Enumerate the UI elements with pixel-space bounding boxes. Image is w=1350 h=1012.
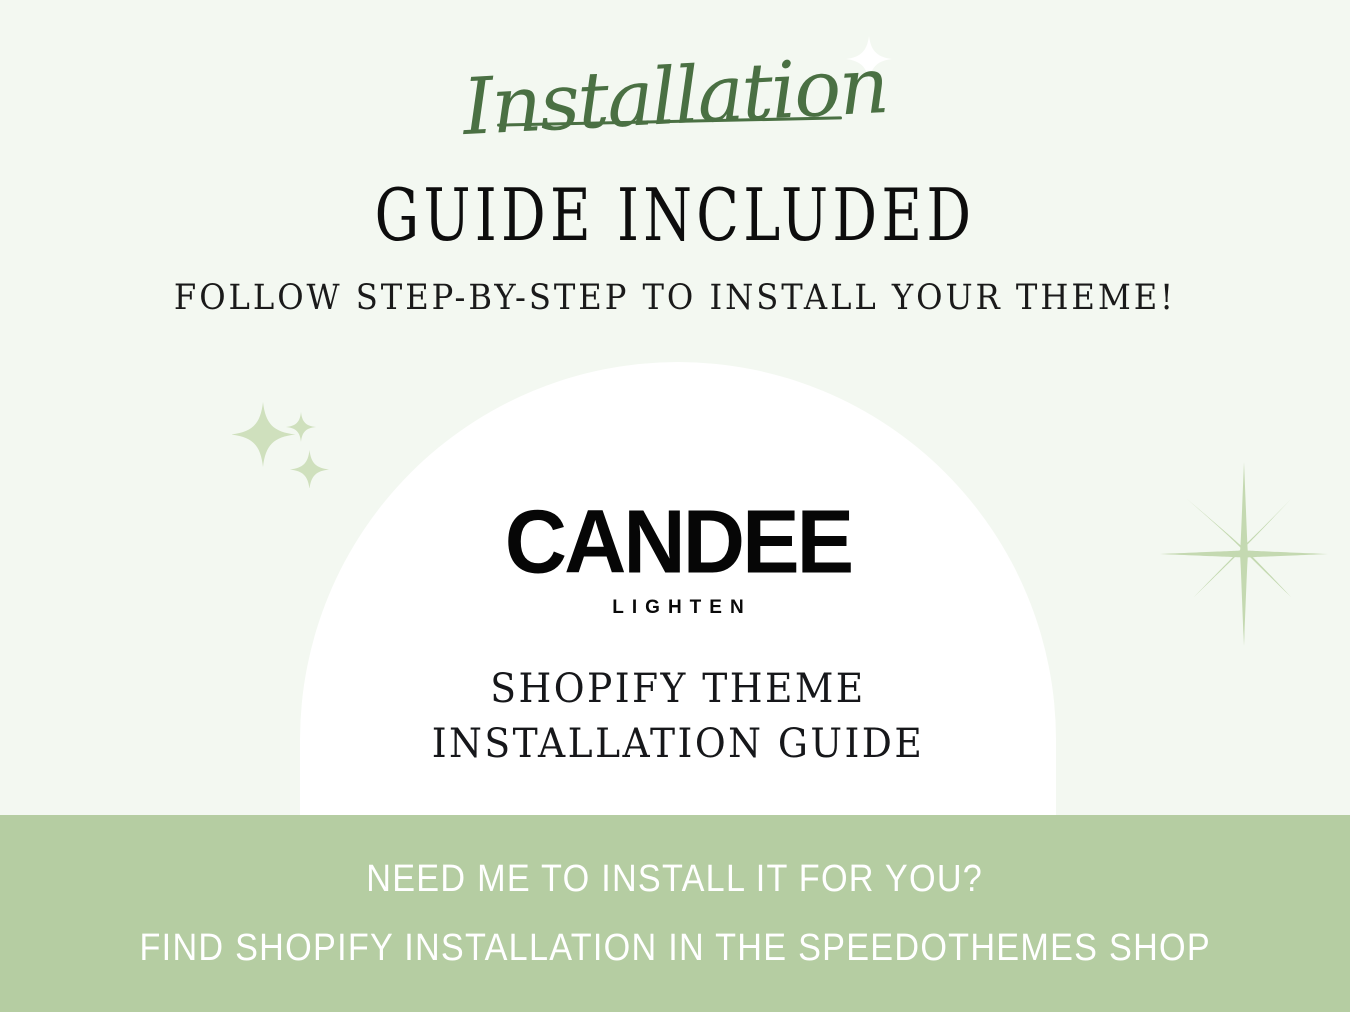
page-title: GUIDE INCLUDED — [95, 179, 1256, 251]
sparkle-cluster-icon — [232, 398, 342, 488]
starburst-icon — [1160, 462, 1328, 646]
brand-tagline: LIGHTEN — [300, 598, 1056, 617]
card-caption: SHOPIFY THEME INSTALLATION GUIDE — [323, 662, 1034, 772]
card-caption-line-1: SHOPIFY THEME — [323, 662, 1034, 717]
poster-canvas: Installation GUIDE INCLUDED FOLLOW STEP-… — [0, 0, 1350, 1012]
footer-banner: NEED ME TO INSTALL IT FOR YOU? FIND SHOP… — [0, 815, 1350, 1012]
card-caption-line-2: INSTALLATION GUIDE — [323, 717, 1034, 772]
brand-logo: CANDEE LIGHTEN — [300, 498, 1056, 617]
footer-banner-line-1: NEED ME TO INSTALL IT FOR YOU? — [367, 860, 984, 898]
page-subtitle: FOLLOW STEP-BY-STEP TO INSTALL YOUR THEM… — [54, 281, 1296, 316]
brand-name: CANDEE — [308, 497, 1049, 587]
script-headline: Installation — [0, 23, 1350, 172]
footer-banner-line-2: FIND SHOPIFY INSTALLATION IN THE SPEEDOT… — [139, 929, 1210, 967]
